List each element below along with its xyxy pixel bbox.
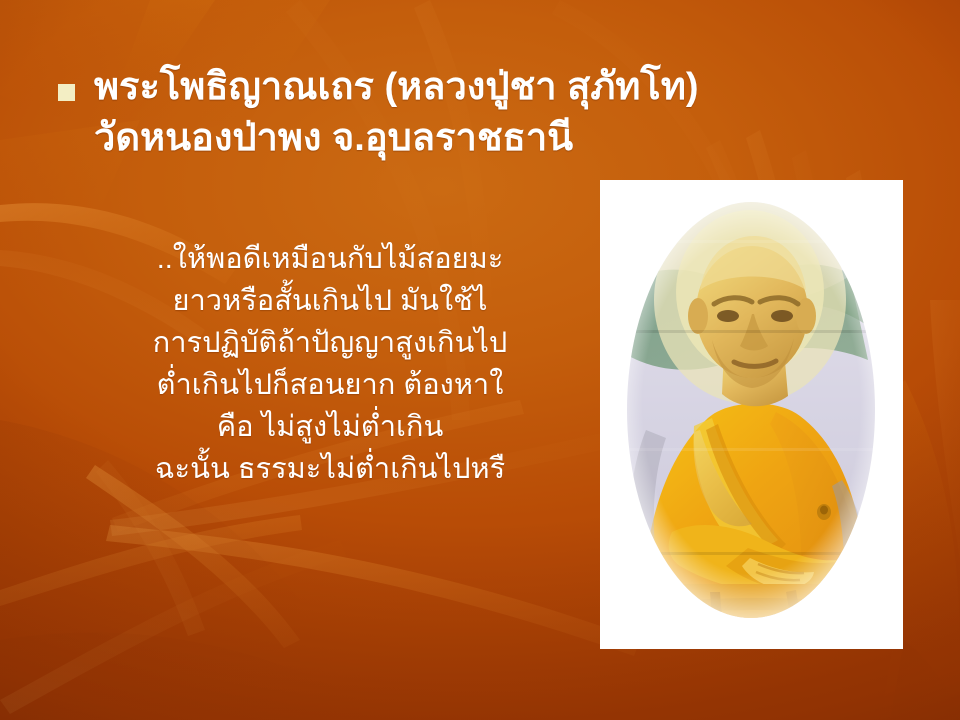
monk-portrait-photo [600, 180, 903, 649]
quote-line-3: การปฏิบัติถ้าปัญญาสูงเกินไป [40, 322, 620, 364]
presentation-slide: พระโพธิญาณเถร (หลวงปู่ชา สุภัทโท) วัดหนอ… [0, 0, 960, 720]
quote-line-2: ยาวหรือสั้นเกินไป มันใช้ไ [40, 280, 620, 322]
slide-title-block: พระโพธิญาณเถร (หลวงปู่ชา สุภัทโท) วัดหนอ… [52, 62, 932, 164]
quote-text-block: ..ให้พอดีเหมือนกับไม้สอยมะ ยาวหรือสั้นเก… [40, 238, 620, 490]
quote-line-5: คือ ไม่สูงไม่ต่ำเกิน [40, 406, 620, 448]
title-line-1: พระโพธิญาณเถร (หลวงปู่ชา สุภัทโท) [94, 62, 932, 113]
quote-line-4: ต่ำเกินไปก็สอนยาก ต้องหาใ [40, 364, 620, 406]
title-text-group: พระโพธิญาณเถร (หลวงปู่ชา สุภัทโท) วัดหนอ… [94, 62, 932, 164]
title-line-2: วัดหนองป่าพง จ.อุบลราชธานี [94, 113, 932, 164]
quote-line-6: ฉะนั้น ธรรมะไม่ต่ำเกินไปหรื [40, 448, 620, 490]
quote-line-1: ..ให้พอดีเหมือนกับไม้สอยมะ [40, 238, 620, 280]
square-bullet-icon [58, 84, 75, 101]
